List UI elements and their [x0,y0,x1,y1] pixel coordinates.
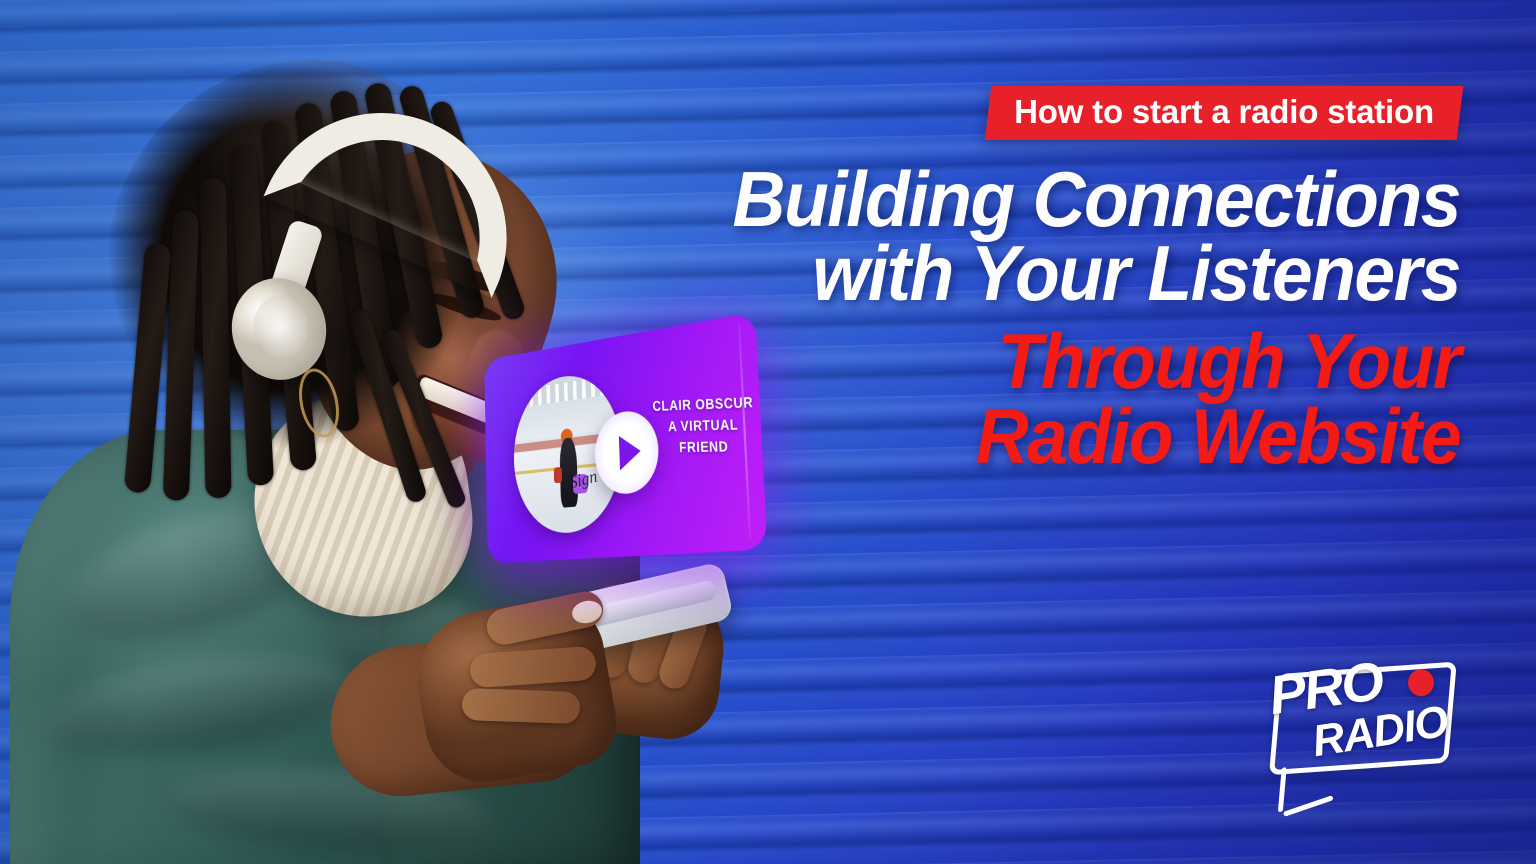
page-subtitle: Through Your Radio Website [680,324,1460,474]
headline-line-1: Building Connections [680,162,1460,236]
headline-line-2: with Your Listeners [680,236,1460,310]
subheadline-line-2: Radio Website [680,399,1460,474]
finger [461,688,580,724]
banner-text-block: How to start a radio station Building Co… [630,86,1460,474]
loc-strand [200,178,232,498]
category-badge-label: How to start a radio station [1014,94,1434,130]
subheadline-line-1: Through Your [680,324,1460,399]
thumb-red-bag [553,467,562,483]
blog-banner: Sign CLAIR OBSCUR A VIRTUAL FRIEND How t… [0,0,1536,864]
pro-radio-logo[interactable]: PRO RADIO [1262,648,1474,815]
page-title: Building Connections with Your Listeners [680,162,1460,310]
category-badge: How to start a radio station [985,86,1463,140]
